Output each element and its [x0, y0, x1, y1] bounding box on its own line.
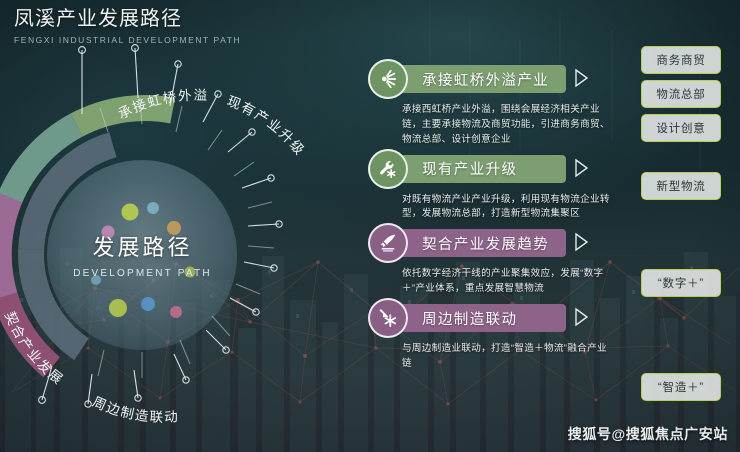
hub-title: 发展路径 — [92, 230, 192, 262]
list-item[interactable]: 承接虹桥外溢产业 承接西虹桥产业外溢，围绕会展经济相关产业链，主要承接物流及商贸… — [368, 62, 626, 148]
tag-chip[interactable]: “智造＋” — [641, 373, 721, 401]
row-description: 承接西虹桥产业外溢，围绕会展经济相关产业链，主要承接物流及商贸功能，引进商务商贸… — [402, 103, 616, 148]
page-title: 凤溪产业发展路径 — [14, 8, 241, 31]
list-item[interactable]: 周边制造联动 与周边制造业联动，打造“智造＋物流”融合产业链 — [368, 301, 626, 372]
hub-subtitle: DEVELOPMENT PATH — [73, 268, 212, 279]
tag-chip[interactable]: 物流总部 — [641, 80, 721, 108]
hub-label-block: 发展路径 DEVELOPMENT PATH — [50, 192, 235, 317]
development-path-arc-diagram: 承接虹桥外溢 现有产业升级 契合产业发展 周边制造联动 — [0, 36, 370, 436]
chevron-right-icon[interactable] — [573, 68, 589, 88]
chevron-right-icon[interactable] — [573, 232, 589, 252]
tag-chip[interactable]: “数字＋” — [641, 269, 721, 297]
wrench-icon — [368, 149, 408, 189]
row-title: 周边制造联动 — [422, 308, 517, 329]
row-title: 契合产业发展趋势 — [422, 233, 549, 254]
row-title: 承接虹桥外溢产业 — [422, 69, 549, 90]
list-item[interactable]: 契合产业发展趋势 依托数字经济干线的产业聚集效应，发展“数字＋”产业体系，重点发… — [368, 226, 626, 297]
row-description: 依托数字经济干线的产业聚集效应，发展“数字＋”产业体系，重点发展智慧物流 — [402, 267, 616, 297]
tag-chip[interactable]: 商务商贸 — [641, 46, 721, 74]
infographic-canvas: 凤溪产业发展路径 FENGXI INDUSTRIAL DEVELOPMENT P… — [0, 0, 740, 452]
arc-segment-labels: 承接虹桥外溢 现有产业升级 — [116, 88, 308, 159]
row-description: 与周边制造业联动，打造“智造＋物流”融合产业链 — [402, 342, 616, 372]
path-detail-list: 承接虹桥外溢产业 承接西虹桥产业外溢，围绕会展经济相关产业链，主要承接物流及商贸… — [368, 62, 626, 376]
burst-icon — [368, 59, 408, 99]
row-title: 现有产业升级 — [422, 158, 517, 179]
chevron-right-icon[interactable] — [573, 307, 589, 327]
tag-chip[interactable]: 设计创意 — [641, 114, 721, 142]
arc-label-2: 现有产业升级 — [225, 93, 308, 158]
tag-chip[interactable]: 新型物流 — [641, 172, 721, 200]
rocket-icon — [368, 223, 408, 263]
target-arrow-icon — [368, 298, 408, 338]
industry-tag-column: 商务商贸 物流总部 设计创意 新型物流 “数字＋” “智造＋” — [641, 0, 733, 452]
row-description: 对既有物流产业产业升级，利用现有物流企业转型，发展物流总部，打造新型物流集聚区 — [402, 193, 616, 223]
chevron-right-icon[interactable] — [573, 158, 589, 178]
list-item[interactable]: 现有产业升级 对既有物流产业产业升级，利用现有物流企业转型，发展物流总部，打造新… — [368, 152, 626, 223]
watermark: 搜狐号@搜狐焦点广安站 — [568, 424, 728, 444]
